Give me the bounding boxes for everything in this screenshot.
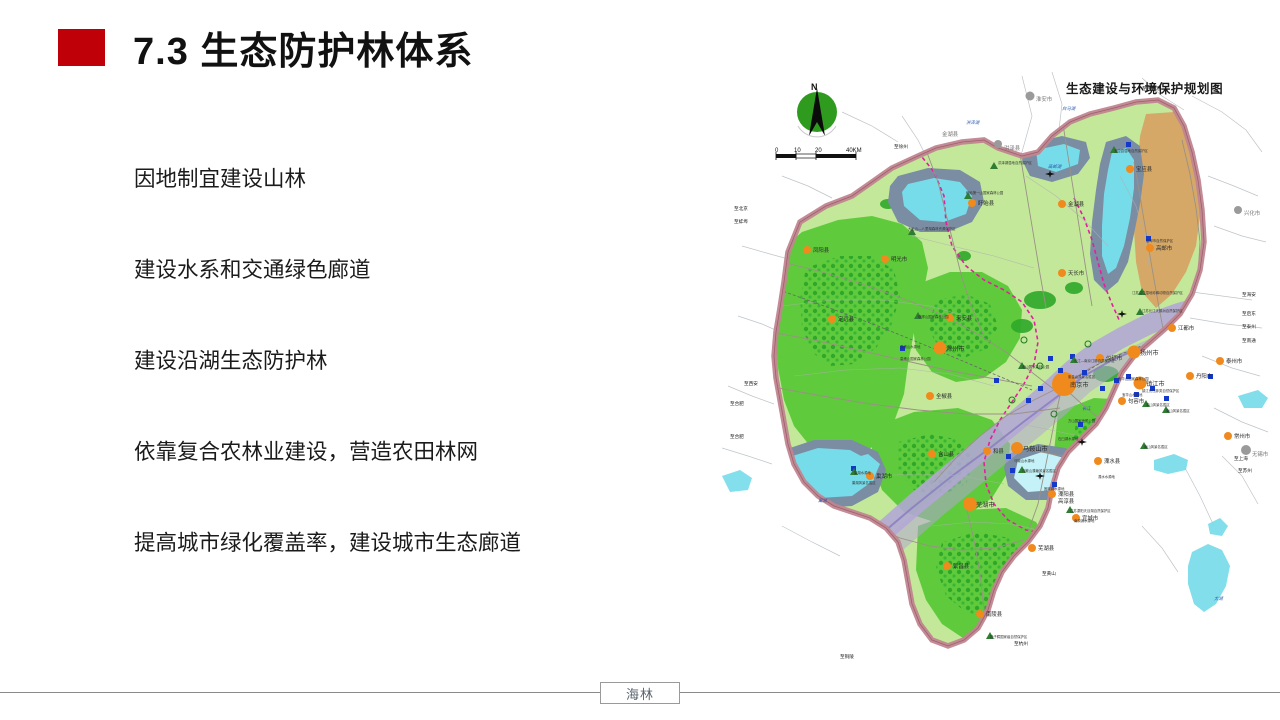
- city-label-9: 滁州市: [946, 344, 965, 353]
- city-label-1: 金湖县: [1068, 200, 1084, 208]
- city-label-2: 盱眙县: [978, 199, 994, 207]
- road-label-15: 至连云港: [1142, 86, 1160, 92]
- site-label-25: 江苏溧阳天目湖自然保护区: [1070, 508, 1111, 513]
- water-label-1: 高邮湖: [1048, 164, 1061, 170]
- site-label-29: 溧水水源地: [1098, 474, 1115, 479]
- slide-title-row: 7.3 生态防护林体系: [58, 20, 473, 75]
- city-label-31: 常州市: [1234, 432, 1250, 440]
- city-label-25: 溧阳县: [1058, 490, 1074, 498]
- map-graphic: [722, 56, 1274, 656]
- city-label-14: 南京市: [1070, 380, 1089, 389]
- site-label-28: 南山风景名胜区: [1144, 444, 1168, 449]
- city-label-3: 高邮市: [1156, 244, 1172, 252]
- road-label-5: 至合肥: [730, 401, 744, 407]
- site-label-11: 紫金山风景名胜区: [1068, 374, 1095, 379]
- water-label-2: 白马湖: [1062, 106, 1075, 112]
- city-label-17: 全椒县: [936, 392, 952, 400]
- site-label-6: 江苏长江天鹅洲自然保护区: [1142, 308, 1183, 313]
- city-label-22: 溧水县: [1104, 457, 1120, 465]
- city-label-28: 芜湖县: [1038, 544, 1054, 552]
- city-marker-chuzhou: [934, 342, 947, 355]
- site-label-24: 固城湖水源地: [1044, 486, 1064, 491]
- site-label-12: 长江—南京江豚自然保护区: [1074, 358, 1115, 363]
- city-label-35: 淮安市: [1036, 95, 1052, 103]
- page-title: 7.3 生态防护林体系: [133, 20, 473, 75]
- map-figure: 生态建设与环境保护规划图 N 0 10 20 40KM 宝应县金湖县盱眙县高邮市…: [722, 56, 1274, 656]
- site-label-13: 宝华山国家森林公园: [1118, 376, 1149, 381]
- site-label-27: 扬子鳄国家级自然保护区: [990, 634, 1027, 639]
- city-label-19: 马鞍山市: [1023, 444, 1048, 453]
- site-label-0: 宝应县湿地自然保护区: [1114, 148, 1148, 153]
- road-label-6: 至铜陵: [840, 654, 854, 660]
- bullet-item-5: 提高城市绿化覆盖率，建设城市生态廊道: [134, 530, 654, 558]
- bullet-list: 因地制宜建设山林 建设水系和交通绿色廊道 建设沿湖生态防护林 依靠复合农林业建设…: [134, 166, 654, 558]
- city-label-36: 无锡市: [1252, 450, 1268, 458]
- city-label-21: 含山县: [938, 450, 954, 458]
- city-label-16: 丹阳市: [1196, 372, 1212, 380]
- city-marker-wuhu: [963, 497, 977, 511]
- site-label-19: 石臼湖水源地: [1058, 436, 1078, 441]
- city-label-20: 和县: [993, 447, 1004, 455]
- scale-tick-10: 10: [794, 148, 801, 154]
- city-label-27: 芜湖市: [976, 500, 995, 509]
- city-label-10: 江都市: [1178, 324, 1194, 332]
- bullet-item-2: 建设水系和交通绿色廊道: [134, 257, 654, 285]
- site-label-2: 高邮市自然保护区: [1146, 238, 1173, 243]
- road-label-0: 至徐州: [894, 144, 908, 150]
- slide-root: 7.3 生态防护林体系 因地制宜建设山林 建设水系和交通绿色廊道 建设沿湖生态防…: [0, 0, 1280, 720]
- water-label-5: 长江: [1082, 406, 1091, 412]
- road-label-4: 至合肥: [730, 434, 744, 440]
- site-label-22: 巢湖水源地: [854, 470, 871, 475]
- site-label-4: 大云山—八里湖森林资源保护区: [908, 226, 955, 231]
- city-label-24: 高淳县: [1058, 497, 1074, 505]
- water-label-0: 洪泽湖: [966, 120, 979, 126]
- site-label-1: 洪泽湖湿地自然保护区: [998, 160, 1032, 165]
- road-label-10: 至南通: [1242, 338, 1256, 344]
- road-label-2: 至蚌埠: [734, 219, 748, 225]
- title-red-marker: [58, 29, 105, 66]
- footer-label-box: 海林: [600, 682, 680, 704]
- site-label-14: 镇江长江豚类自然保护区: [1142, 388, 1179, 393]
- compass-north-label: N: [811, 82, 818, 92]
- site-label-3: 盱眙第一山国家森林公园: [966, 190, 1003, 195]
- road-label-1: 至北京: [734, 206, 748, 212]
- city-label-30: 南陵县: [986, 610, 1002, 618]
- scale-tick-0: 0: [775, 148, 778, 154]
- scale-tick-40: 40KM: [846, 148, 862, 154]
- site-label-5: 江苏沿江湿地珍稀动物自然保护区: [1132, 290, 1183, 295]
- site-label-9: 皇甫山国家森林公园: [900, 356, 931, 361]
- road-label-3: 至西安: [744, 381, 758, 387]
- scale-tick-20: 20: [815, 148, 822, 154]
- bullet-item-1: 因地制宜建设山林: [134, 166, 654, 194]
- city-label-5: 凤阳县: [813, 246, 829, 254]
- city-label-29: 繁昌县: [953, 562, 969, 570]
- city-label-6: 明光市: [891, 255, 907, 263]
- site-label-20: 马鞍山水源地: [1014, 458, 1034, 463]
- city-label-32: 兴化市: [1244, 209, 1260, 217]
- city-label-33: 金湖县: [942, 130, 958, 138]
- site-label-15: 茅山风景名胜区: [1146, 402, 1170, 407]
- site-label-17: 南山风景名胜区: [1166, 408, 1190, 413]
- road-label-9: 至苏州: [1238, 468, 1252, 474]
- water-label-4: 太湖: [1214, 596, 1223, 602]
- city-label-8: 来安县: [956, 314, 972, 322]
- city-label-0: 宝应县: [1136, 165, 1152, 173]
- road-label-14: 至黄山: [1042, 571, 1056, 577]
- site-label-10: 老山国家森林公园: [1022, 364, 1049, 369]
- city-marker-yangzhou: [1128, 346, 1141, 359]
- city-label-4: 天长市: [1068, 269, 1084, 277]
- city-marker-maanshan: [1011, 442, 1023, 454]
- road-label-8: 至上海: [1234, 456, 1248, 462]
- city-label-11: 扬州市: [1140, 348, 1159, 357]
- water-label-3: 巢湖: [818, 498, 827, 504]
- city-label-13: 泰州市: [1226, 357, 1242, 365]
- city-label-34: 洪泽县: [1004, 144, 1020, 152]
- road-label-12: 至启东: [1242, 311, 1256, 317]
- site-label-7: 琅琊山国家森林公园: [918, 314, 949, 319]
- road-label-13: 至海安: [1242, 292, 1256, 298]
- site-label-8: 皇甫山水源地: [900, 344, 920, 349]
- city-label-7: 定远县: [838, 315, 854, 323]
- site-label-23: 巢湖风景名胜区: [852, 480, 876, 485]
- city-label-23: 巢湖市: [876, 472, 892, 480]
- site-label-18: 方山国家地质公园: [1068, 418, 1095, 423]
- site-label-26: 南漪湖水源地: [1074, 518, 1094, 523]
- road-label-7: 至杭州: [1014, 641, 1028, 647]
- site-label-16: 宝华山水源地: [1122, 392, 1142, 397]
- bullet-item-3: 建设沿湖生态防护林: [134, 348, 654, 376]
- city-label-18: 句容市: [1128, 397, 1144, 405]
- site-label-21: 马鞍山濮塘风景名胜区: [1022, 468, 1056, 473]
- road-label-11: 至泰州: [1242, 324, 1256, 330]
- bullet-item-4: 依靠复合农林业建设，营造农田林网: [134, 439, 654, 467]
